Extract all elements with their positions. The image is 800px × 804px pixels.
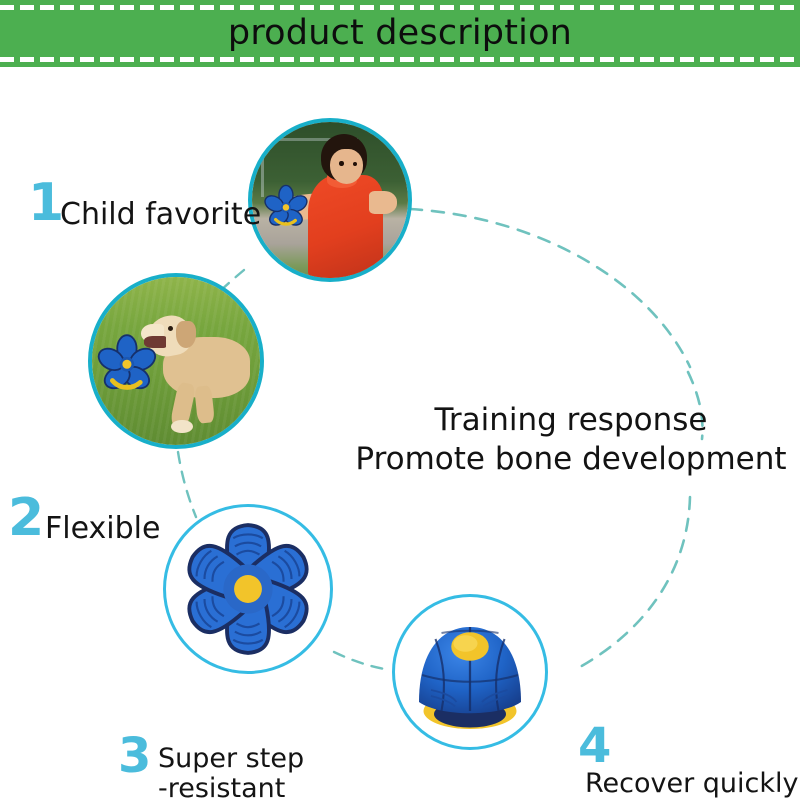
- feature-label-4: Recover quickly: [585, 769, 799, 799]
- feature-image-child-favorite[interactable]: [248, 118, 412, 282]
- product-flower-disc-flat: [166, 507, 330, 671]
- feature-image-step-resistant[interactable]: [163, 504, 333, 674]
- product-ball-dome: [395, 597, 545, 747]
- photo-dog-paw: [171, 420, 193, 433]
- header-dashed-line-bottom: [0, 57, 800, 62]
- photo-disc-ball-in-hand: [261, 184, 311, 231]
- photo-dog-eye: [168, 326, 173, 331]
- header-dashed-line-top: [0, 5, 800, 10]
- feature-label-2: Flexible: [45, 512, 160, 546]
- photo-boy-face: [330, 149, 363, 185]
- center-benefit-text: Training response Promote bone developme…: [345, 401, 797, 479]
- arc-right-lower: [580, 497, 690, 667]
- feature-image-recover-quickly[interactable]: [392, 594, 548, 750]
- feature-label-1: Child favorite: [60, 198, 261, 232]
- center-benefit-line-1: Training response: [345, 401, 797, 440]
- connector-3-to-4: [334, 652, 390, 670]
- feature-number-3: 3: [118, 732, 151, 780]
- feature-label-3: Super step -resistant: [158, 744, 304, 804]
- photo-boy-arm-right: [369, 191, 397, 214]
- page-title: product description: [228, 16, 572, 51]
- feature-number-4: 4: [578, 722, 611, 770]
- photo-disc-ball-on-grass: [95, 334, 159, 394]
- feature-image-flexible[interactable]: [88, 273, 264, 449]
- center-benefit-line-2: Promote bone development: [345, 440, 797, 479]
- photo-boy-eye-left: [339, 161, 344, 166]
- header-banner: product description: [0, 0, 800, 67]
- feature-number-1: 1: [28, 177, 64, 229]
- photo-dog-ear: [176, 321, 196, 348]
- feature-diagram: 1 Child favorite 2 Flexible 3 Super step…: [0, 67, 800, 800]
- arc-top-right: [410, 209, 690, 367]
- feature-number-2: 2: [8, 492, 44, 544]
